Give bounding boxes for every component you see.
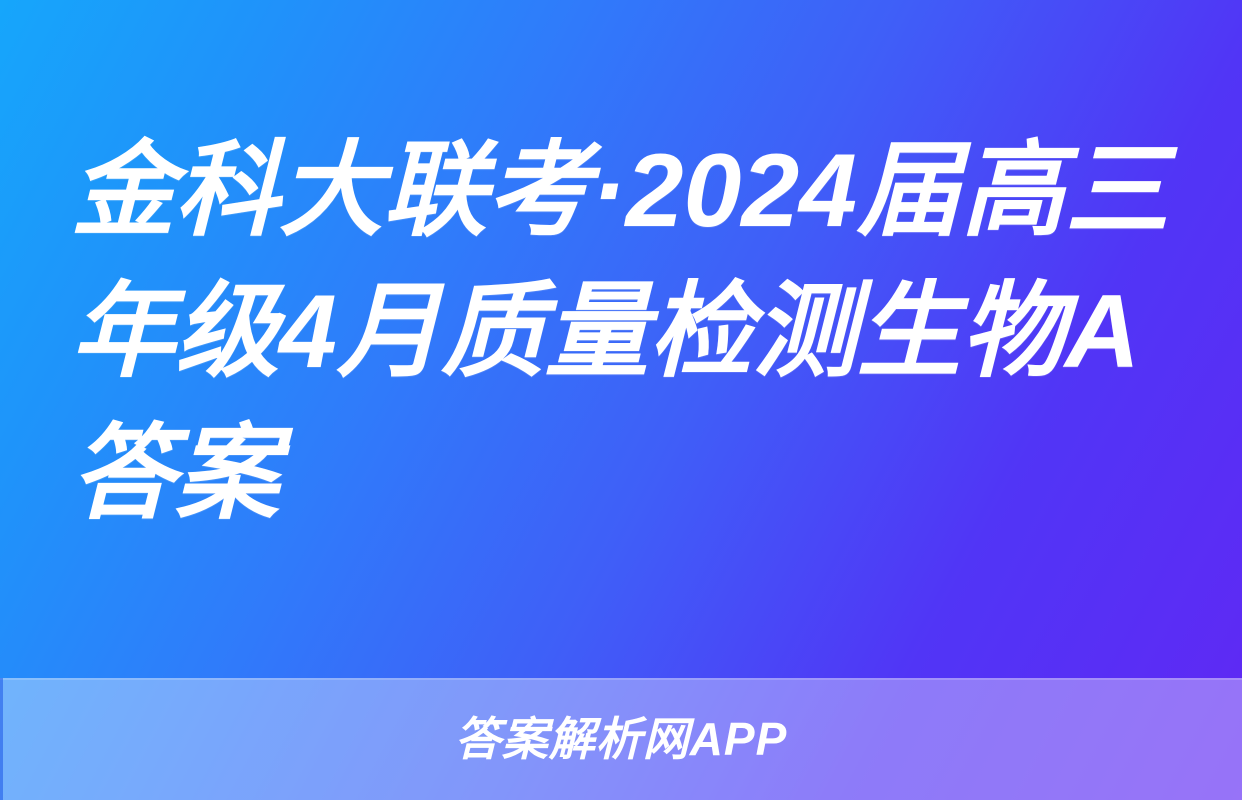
- poster-canvas: 金科大联考·2024届高三年级4月质量检测生物A答案 答案解析网APP: [0, 0, 1242, 800]
- footer-left-accent: [0, 678, 3, 800]
- watermark-label: 答案解析网APP: [455, 716, 788, 762]
- title-block: 金科大联考·2024届高三年级4月质量检测生物A答案: [0, 0, 1242, 678]
- page-title: 金科大联考·2024届高三年级4月质量检测生物A答案: [71, 121, 1171, 545]
- footer-top-divider: [0, 678, 1242, 680]
- footer-watermark-band: 答案解析网APP: [0, 678, 1242, 800]
